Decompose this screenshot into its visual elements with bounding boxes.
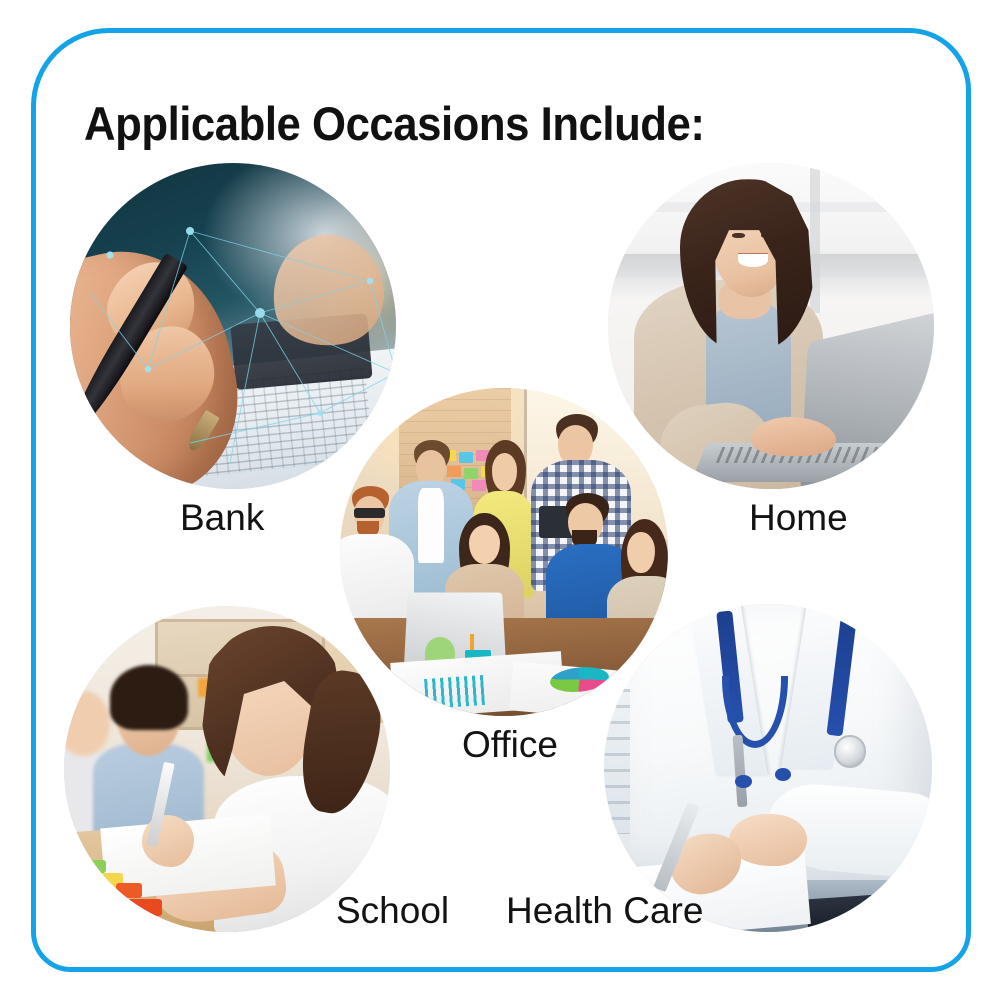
- occasion-label-office: Office: [462, 724, 558, 766]
- page-title: Applicable Occasions Include:: [84, 96, 704, 151]
- health-care-image-circle: [604, 604, 932, 932]
- occasion-label-home: Home: [749, 497, 848, 539]
- occasion-label-bank: Bank: [180, 497, 264, 539]
- school-scene-image: [64, 606, 390, 932]
- occasion-school: School: [64, 606, 390, 932]
- school-image-circle: [64, 606, 390, 932]
- health-care-scene-image: [604, 604, 932, 932]
- occasion-label-health-care: Health Care: [506, 890, 703, 932]
- occasion-label-school: School: [336, 890, 449, 932]
- occasions-infographic: Applicable Occasions Include:: [0, 0, 1000, 1000]
- occasion-health-care: Health Care: [604, 604, 932, 932]
